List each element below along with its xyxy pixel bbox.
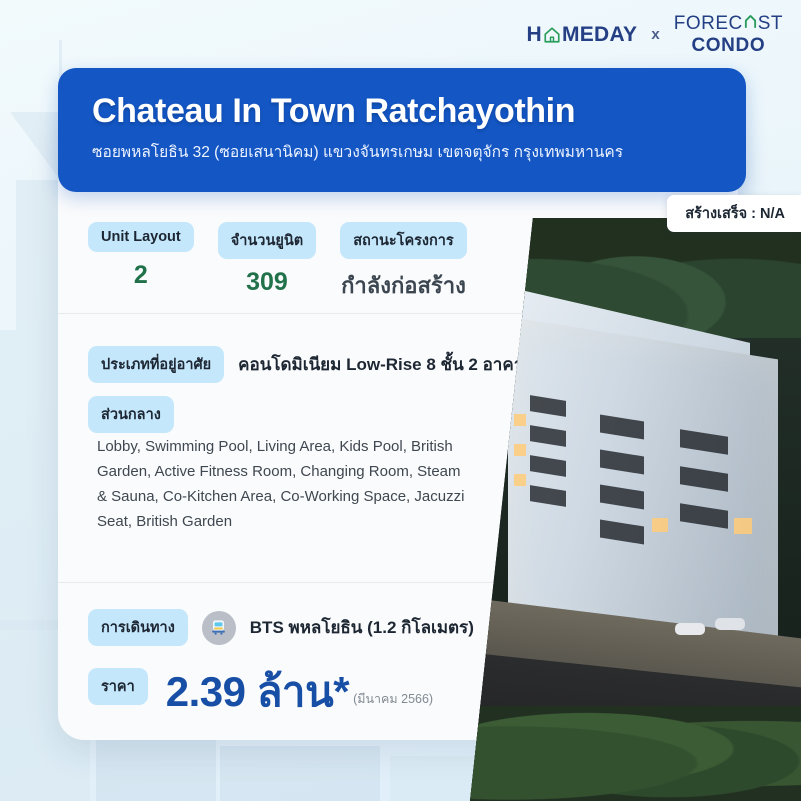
train-icon	[202, 611, 236, 645]
stat-value: กำลังก่อสร้าง	[340, 268, 467, 303]
logo-bar: H MEDAY x FOREC ST CONDO	[526, 14, 783, 55]
residence-type-value: คอนโดมิเนียม Low-Rise 8 ชั้น 2 อาคาร	[238, 351, 532, 378]
page-title: Chateau In Town Ratchayothin	[92, 94, 746, 130]
house-icon	[543, 26, 561, 44]
roof-chevron-icon	[744, 14, 757, 33]
poster-canvas: H MEDAY x FOREC ST CONDO	[0, 0, 801, 801]
residence-type-label: ประเภทที่อยู่อาศัย	[88, 346, 224, 383]
project-address: ซอยพหลโยธิน 32 (ซอยเสนานิคม) แขวงจันทรเก…	[92, 139, 746, 164]
stats-row: Unit Layout 2 จำนวนยูนิต 309 สถานะโครงกา…	[88, 222, 467, 303]
stat-value: 2	[88, 261, 194, 290]
background-building-watermark	[220, 746, 380, 801]
stat-value: 309	[218, 268, 316, 297]
travel-row: การเดินทาง BTS พหลโยธิน (1.2 กิโลเมตร)	[88, 609, 474, 646]
price-label: ราคา	[88, 668, 148, 705]
travel-value: BTS พหลโยธิน (1.2 กิโลเมตร)	[250, 614, 474, 641]
stat-label: Unit Layout	[88, 222, 194, 252]
forecast-text-post: ST	[758, 14, 783, 33]
homeday-logo-text-post: MEDAY	[562, 23, 637, 47]
logo-separator: x	[651, 26, 659, 43]
forecast-text-pre: FOREC	[674, 14, 743, 33]
stat-label: สถานะโครงการ	[340, 222, 467, 259]
project-header: Chateau In Town Ratchayothin ซอยพหลโยธิน…	[58, 68, 746, 192]
travel-label: การเดินทาง	[88, 609, 188, 646]
stat-unit-layout: Unit Layout 2	[88, 222, 194, 303]
homeday-logo: H MEDAY	[526, 23, 637, 47]
price-date-note: (มีนาคม 2566)	[353, 689, 433, 709]
price-row: ราคา 2.39 ล้าน* (มีนาคม 2566)	[88, 668, 433, 713]
completion-badge: สร้างเสร็จ : N/A	[667, 195, 801, 232]
amenities-label: ส่วนกลาง	[88, 396, 174, 433]
background-building-watermark	[0, 330, 60, 630]
stat-label: จำนวนยูนิต	[218, 222, 316, 259]
residence-type-row: ประเภทที่อยู่อาศัย คอนโดมิเนียม Low-Rise…	[88, 346, 532, 383]
forecast-condo-logo: FOREC ST CONDO	[674, 14, 783, 55]
amenities-list: Lobby, Swimming Pool, Living Area, Kids …	[97, 434, 467, 534]
condo-text: CONDO	[674, 36, 783, 55]
homeday-logo-text-pre: H	[526, 23, 541, 47]
stat-unit-count: จำนวนยูนิต 309	[218, 222, 316, 303]
stat-project-status: สถานะโครงการ กำลังก่อสร้าง	[340, 222, 467, 303]
price-value: 2.39 ล้าน*	[166, 671, 349, 713]
